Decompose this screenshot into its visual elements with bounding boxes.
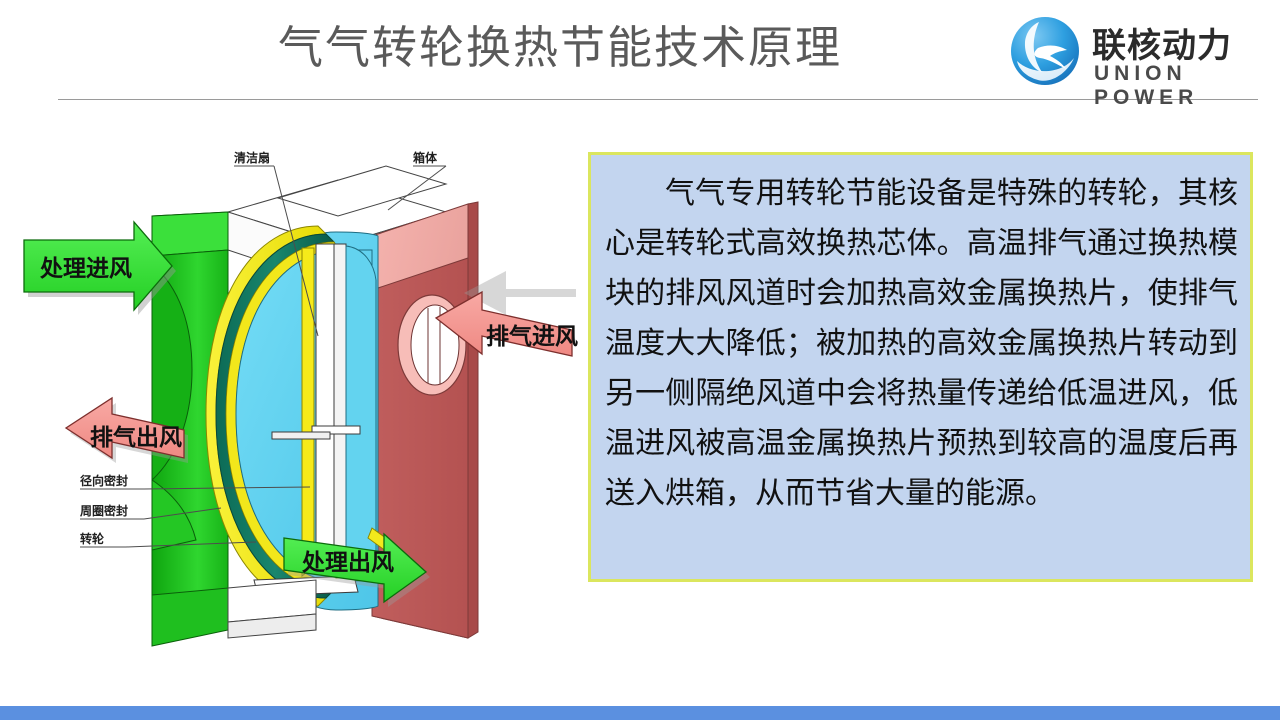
page-title: 气气转轮换热节能技术原理 [150,20,970,76]
description-paragraph: 气气专用转轮节能设备是特殊的转轮，其核心是转轮式高效换热芯体。高温排气通过换热模… [591,155,1250,519]
callout-label-radial-seal: 径向密封 [80,473,128,488]
flow-arrow-label-process-air-outlet: 处理出风 [301,550,394,576]
company-logo: 联核动力 UNION POWER [1008,12,1270,94]
globe-swoosh-icon [1008,14,1082,88]
callout-label-rotor-wheel: 转轮 [80,531,105,546]
rotary-heat-exchanger-diagram: 清洁扇 箱体 径向密封 周圈密封 转轮 处理进风 [16,140,578,652]
description-textbox: 气气专用转轮节能设备是特殊的转轮，其核心是转轮式高效换热芯体。高温排气通过换热模… [588,152,1253,582]
logo-english-name: UNION POWER [1094,62,1270,110]
footer-accent-bar [0,706,1280,720]
title-divider [58,99,1258,100]
logo-chinese-name: 联核动力 [1092,18,1232,67]
callout-label-housing: 箱体 [413,150,438,165]
flow-arrow-label-process-air-inlet: 处理进风 [39,256,132,282]
flow-arrow-label-exhaust-air-outlet: 排气出风 [90,424,182,451]
slide-header: 气气转轮换热节能技术原理 [0,0,1280,108]
flow-arrow-label-exhaust-air-inlet: 排气进风 [486,323,578,350]
callout-label-circumferential-seal: 周圈密封 [80,503,128,518]
callout-label-cleaning-sector: 清洁扇 [234,150,270,165]
housing-base [228,580,316,638]
